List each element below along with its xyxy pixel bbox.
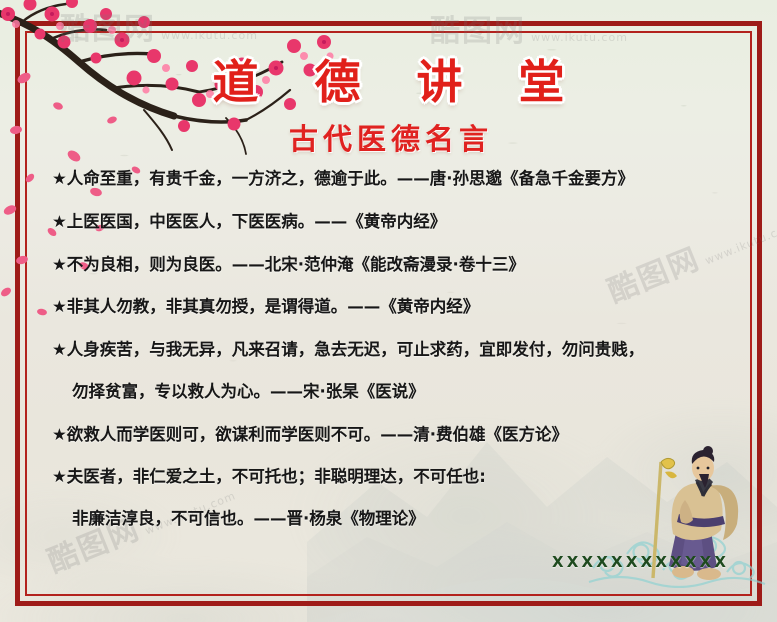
page-title: 道 德 讲 堂 [0,46,777,112]
quote-item: ★非其人勿教，非其真勿授，是谓得道。——《黄帝内经》 [52,296,724,319]
watermark: 酷图网 www.ikutu.com [430,6,628,50]
quote-list: ★人命至重，有贵千金，一方济之，德逾于此。——唐·孙思邈《备急千金要方》 ★上医… [52,168,724,551]
quote-line: ★夫医者，非仁爱之土，不可托也；非聪明理达，不可任也: [52,466,724,489]
quote-line: 勿择贫富，专以救人为心。——宋·张杲《医说》 [52,381,724,404]
quote-line: ★人身疾苦，与我无异，凡来召请，急去无迟，可止求药，宜即发付，勿问贵贱， [52,339,724,362]
quote-line: 非廉洁淳良，不可信也。——晋·杨泉《物理论》 [52,508,724,531]
quote-item: ★不为良相，则为良医。——北宋·范仲淹《能改斋漫录·卷十三》 [52,254,724,277]
quote-item: ★欲救人而学医则可，欲谋利而学医则不可。——清·费伯雄《医方论》 [52,424,724,447]
watermark-brand: 酷图网 [430,14,526,49]
quote-line: ★人命至重，有贵千金，一方济之，德逾于此。——唐·孙思邈《备急千金要方》 [52,168,724,191]
quote-item: ★夫医者，非仁爱之土，不可托也；非聪明理达，不可任也: 非廉洁淳良，不可信也。—… [52,466,724,531]
page-subtitle: 古代医德名言 [0,116,777,158]
watermark-url: www.ikutu.com [531,31,628,44]
watermark-brand: 酷图网 [60,12,156,47]
watermark: 酷图网 www.ikutu.com [60,4,258,48]
quote-line: ★非其人勿教，非其真勿授，是谓得道。——《黄帝内经》 [52,296,724,319]
quote-line: ★欲救人而学医则可，欲谋利而学医则不可。——清·费伯雄《医方论》 [52,424,724,447]
quote-line: ★上医医国，中医医人，下医医病。——《黄帝内经》 [52,211,724,234]
quote-item: ★人身疾苦，与我无异，凡来召请，急去无迟，可止求药，宜即发付，勿问贵贱， 勿择贫… [52,339,724,404]
quote-item: ★人命至重，有贵千金，一方济之，德逾于此。——唐·孙思邈《备急千金要方》 [52,168,724,191]
poster-canvas: 酷图网 www.ikutu.com 酷图网 www.ikutu.com 酷图网 … [0,0,777,622]
quote-item: ★上医医国，中医医人，下医医病。——《黄帝内经》 [52,211,724,234]
watermark-url: www.ikutu.com [161,29,258,42]
footer-mark: XXXXXXXXXXXX [552,553,729,571]
quote-line: ★不为良相，则为良医。——北宋·范仲淹《能改斋漫录·卷十三》 [52,254,724,277]
